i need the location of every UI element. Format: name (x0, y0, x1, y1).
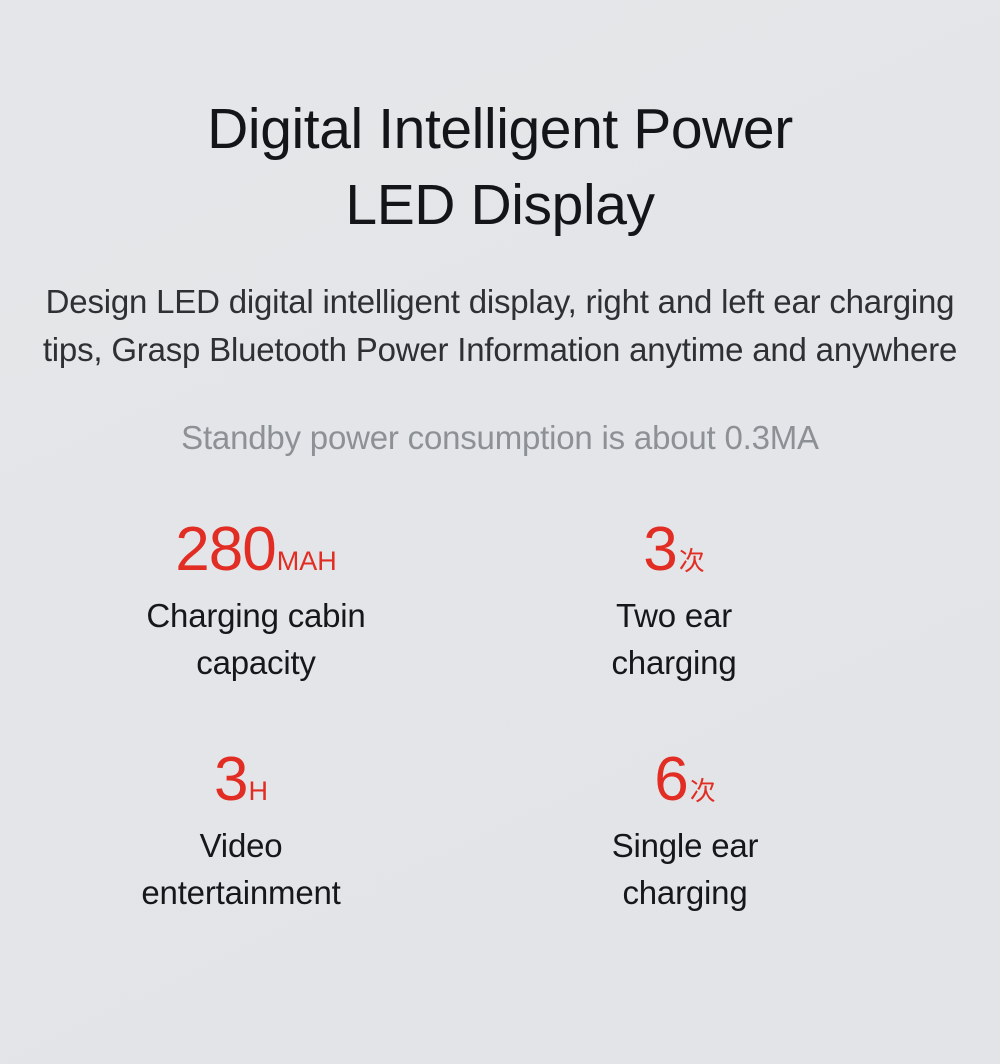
stat-charging-cabin-capacity: 280 MAH Charging cabin capacity (90, 519, 500, 687)
stat-unit: MAH (277, 548, 337, 575)
stat-video-entertainment: 3 H Video entertainment (90, 749, 500, 917)
stat-two-ear-charging: 3 次 Two ear charging (500, 519, 910, 687)
stats-grid: 280 MAH Charging cabin capacity 3 次 Two … (90, 519, 910, 916)
stat-label: Two ear charging (612, 593, 737, 687)
stat-value: 6 次 (654, 749, 716, 811)
stat-number: 3 (643, 519, 676, 581)
stat-number: 280 (175, 519, 275, 581)
stat-label: Video entertainment (141, 823, 340, 917)
stat-single-ear-charging: 6 次 Single ear charging (500, 749, 910, 917)
standby-power-note: Standby power consumption is about 0.3MA (0, 419, 1000, 457)
stat-unit: 次 (679, 549, 705, 575)
stat-label: Charging cabin capacity (146, 593, 365, 687)
feature-description: Design LED digital intelligent display, … (35, 278, 965, 376)
stat-unit: H (248, 778, 268, 805)
product-feature-page: Digital Intelligent Power LED Display De… (0, 0, 1000, 1064)
stat-number: 3 (214, 749, 247, 811)
stat-value: 3 次 (643, 519, 705, 581)
page-title: Digital Intelligent Power LED Display (0, 92, 1000, 244)
stat-value: 3 H (214, 749, 268, 811)
stat-number: 6 (654, 749, 687, 811)
stat-unit: 次 (690, 779, 716, 805)
stat-value: 280 MAH (175, 519, 336, 581)
stat-label: Single ear charging (612, 823, 759, 917)
